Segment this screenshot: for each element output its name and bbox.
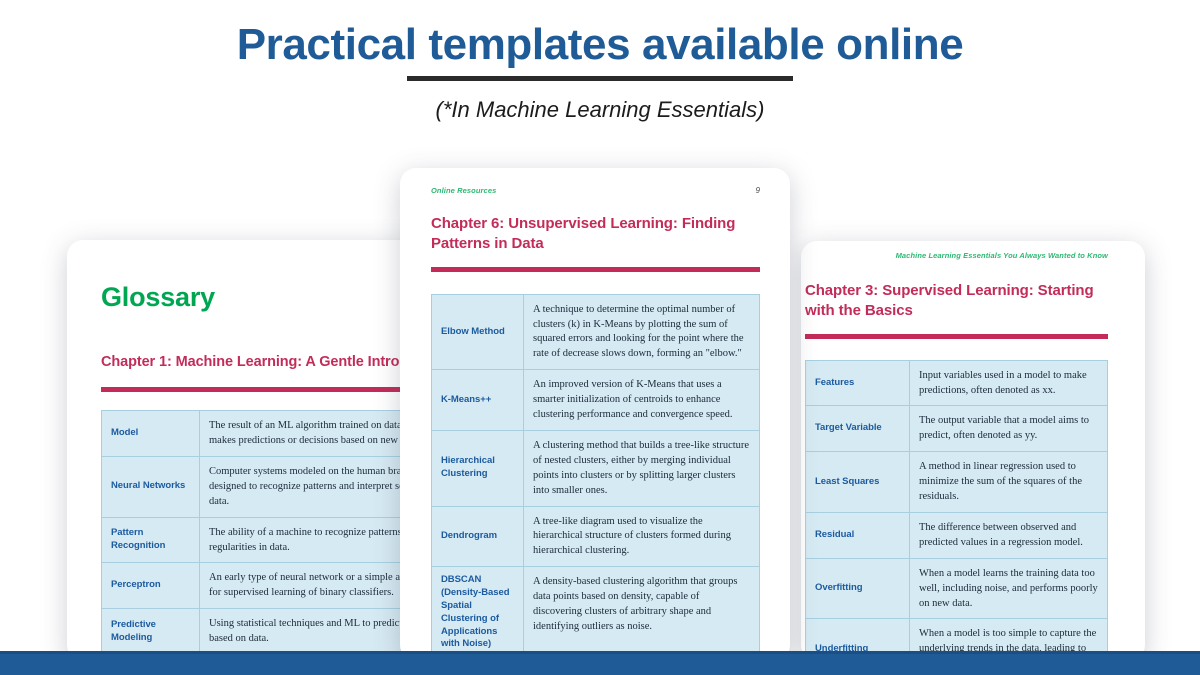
table-row: FeaturesInput variables used in a model … bbox=[806, 360, 1108, 406]
glossary-definition: A method in linear regression used to mi… bbox=[910, 452, 1108, 513]
table-row: Least SquaresA method in linear regressi… bbox=[806, 452, 1108, 513]
running-head-text: Machine Learning Essentials You Always W… bbox=[896, 251, 1108, 260]
table-row: DendrogramA tree-like diagram used to vi… bbox=[432, 506, 760, 567]
glossary-definition: The output variable that a model aims to… bbox=[910, 406, 1108, 452]
running-head: Online Resources 9 bbox=[431, 186, 760, 195]
page-number: 9 bbox=[755, 186, 760, 195]
glossary-term: Overfitting bbox=[806, 558, 910, 619]
glossary-table: FeaturesInput variables used in a model … bbox=[805, 360, 1108, 661]
page-previews-stage: Machine Learning Essentials You Always W… bbox=[0, 0, 1200, 675]
glossary-definition: Input variables used in a model to make … bbox=[910, 360, 1108, 406]
glossary-term: Perceptron bbox=[102, 563, 200, 609]
glossary-term: Model bbox=[102, 411, 200, 457]
running-head: Machine Learning Essentials You Always W… bbox=[805, 251, 1108, 260]
glossary-definition: A density-based clustering algorithm tha… bbox=[524, 567, 760, 659]
table-row: ResidualThe difference between observed … bbox=[806, 512, 1108, 558]
table-row: OverfittingWhen a model learns the train… bbox=[806, 558, 1108, 619]
glossary-term: Elbow Method bbox=[432, 294, 524, 370]
chapter-rule bbox=[431, 267, 760, 272]
table-row: DBSCAN (Density-Based Spatial Clustering… bbox=[432, 567, 760, 659]
glossary-term: Pattern Recognition bbox=[102, 517, 200, 563]
chapter-rule bbox=[805, 334, 1108, 339]
table-row: Hierarchical ClusteringA clustering meth… bbox=[432, 430, 760, 506]
glossary-term: K-Means++ bbox=[432, 370, 524, 431]
glossary-term: Residual bbox=[806, 512, 910, 558]
glossary-term: Least Squares bbox=[806, 452, 910, 513]
chapter-heading: Chapter 3: Supervised Learning: Starting… bbox=[805, 281, 1108, 321]
glossary-term: Features bbox=[806, 360, 910, 406]
chapter-heading: Chapter 6: Unsupervised Learning: Findin… bbox=[431, 214, 760, 254]
table-row: Target VariableThe output variable that … bbox=[806, 406, 1108, 452]
glossary-definition: An improved version of K-Means that uses… bbox=[524, 370, 760, 431]
glossary-term: Neural Networks bbox=[102, 456, 200, 517]
footer-bar-shade bbox=[0, 651, 1200, 654]
glossary-term: Dendrogram bbox=[432, 506, 524, 567]
footer-bar bbox=[0, 651, 1200, 675]
glossary-table-body: FeaturesInput variables used in a model … bbox=[806, 360, 1108, 661]
page-preview-center[interactable]: Online Resources 9 Chapter 6: Unsupervis… bbox=[400, 168, 790, 661]
glossary-term: Target Variable bbox=[806, 406, 910, 452]
table-row: Elbow MethodA technique to determine the… bbox=[432, 294, 760, 370]
table-row: K-Means++An improved version of K-Means … bbox=[432, 370, 760, 431]
glossary-definition: The difference between observed and pred… bbox=[910, 512, 1108, 558]
glossary-table-body: Elbow MethodA technique to determine the… bbox=[432, 294, 760, 659]
glossary-term: Predictive Modeling bbox=[102, 609, 200, 655]
glossary-definition: A technique to determine the optimal num… bbox=[524, 294, 760, 370]
page-preview-right[interactable]: Machine Learning Essentials You Always W… bbox=[801, 241, 1145, 661]
glossary-definition: A tree-like diagram used to visualize th… bbox=[524, 506, 760, 567]
glossary-term: DBSCAN (Density-Based Spatial Clustering… bbox=[432, 567, 524, 659]
glossary-term: Hierarchical Clustering bbox=[432, 430, 524, 506]
glossary-definition: A clustering method that builds a tree-l… bbox=[524, 430, 760, 506]
running-head-text: Online Resources bbox=[431, 186, 496, 195]
glossary-table: Elbow MethodA technique to determine the… bbox=[431, 294, 760, 660]
glossary-definition: When a model learns the training data to… bbox=[910, 558, 1108, 619]
